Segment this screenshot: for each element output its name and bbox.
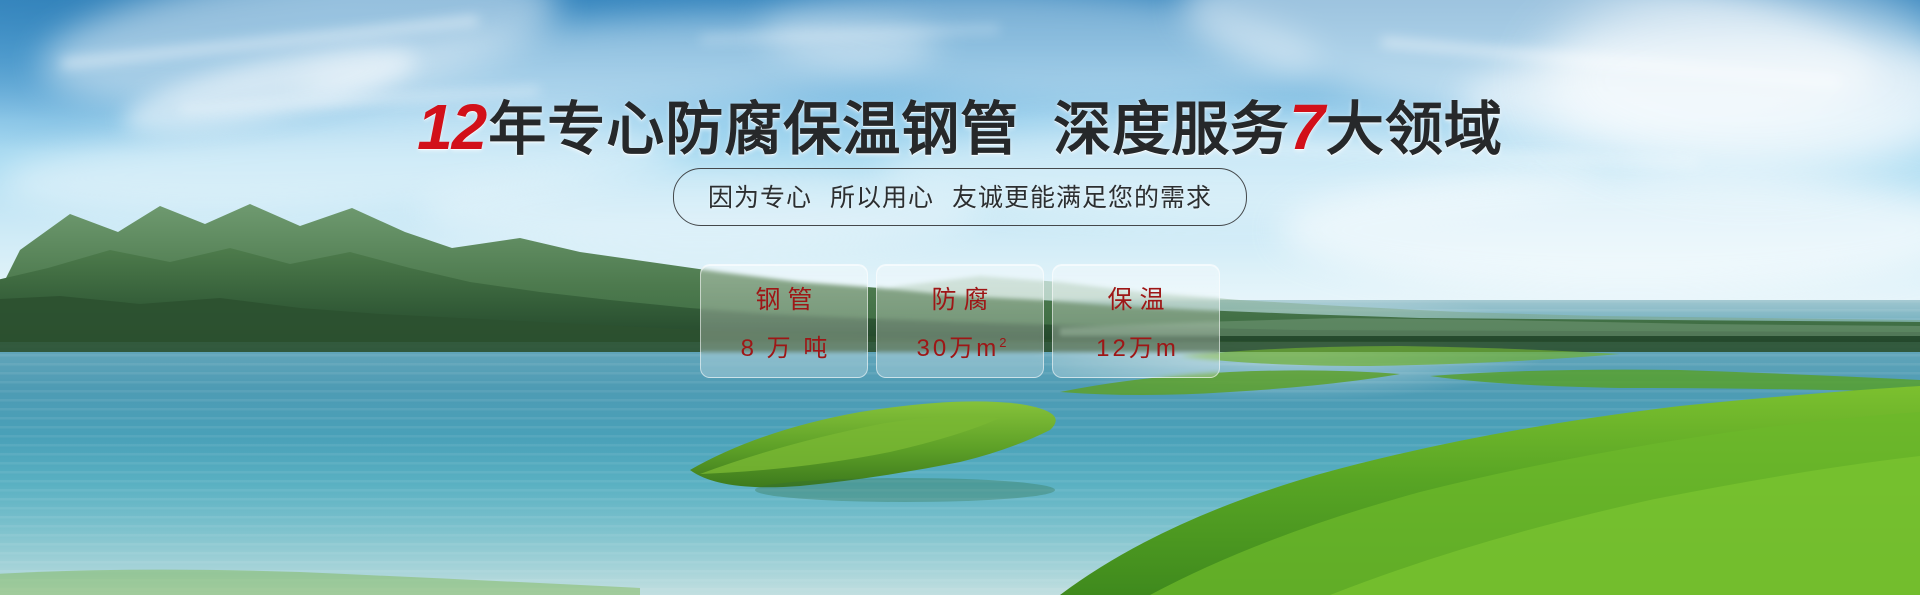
headline-text-part1: 年专心防腐保温钢管 <box>488 97 1019 162</box>
stat-card-steel-pipe: 钢管 8 万 吨 <box>700 264 868 378</box>
headline-text-part2: 深度服务 <box>1053 97 1289 162</box>
headline-fields-number: 7 <box>1289 91 1326 163</box>
subtitle-segment-2: 所以用心 <box>830 184 934 212</box>
stat-value-text: 30万m <box>917 335 1000 362</box>
stat-label: 钢管 <box>748 280 819 316</box>
stat-card-group: 钢管 8 万 吨 防腐 30万m2 保温 12万m <box>700 264 1220 378</box>
banner-content: 12年专心防腐保温钢管深度服务7大领域 因为专心所以用心友诚更能满足您的需求 钢… <box>0 0 1920 595</box>
stat-label: 保温 <box>1100 280 1171 316</box>
hero-banner: 12年专心防腐保温钢管深度服务7大领域 因为专心所以用心友诚更能满足您的需求 钢… <box>0 0 1920 595</box>
stat-label: 防腐 <box>924 280 995 316</box>
headline-text-part3: 大领域 <box>1326 97 1503 162</box>
stat-value: 30万m2 <box>914 328 1007 363</box>
subtitle-segment-1: 因为专心 <box>708 184 812 212</box>
stat-value: 12万m <box>1093 328 1179 363</box>
subtitle-segment-3: 友诚更能满足您的需求 <box>952 184 1212 212</box>
headline-years-number: 12 <box>417 91 488 163</box>
stat-card-anticorrosion: 防腐 30万m2 <box>876 264 1044 378</box>
stat-value-text: 12万m <box>1096 335 1179 362</box>
stat-value-text: 8 万 吨 <box>741 335 831 362</box>
headline: 12年专心防腐保温钢管深度服务7大领域 <box>0 82 1920 166</box>
stat-value: 8 万 吨 <box>738 328 831 363</box>
subtitle-pill: 因为专心所以用心友诚更能满足您的需求 <box>673 168 1247 226</box>
stat-value-superscript: 2 <box>999 335 1006 350</box>
stat-card-insulation: 保温 12万m <box>1052 264 1220 378</box>
